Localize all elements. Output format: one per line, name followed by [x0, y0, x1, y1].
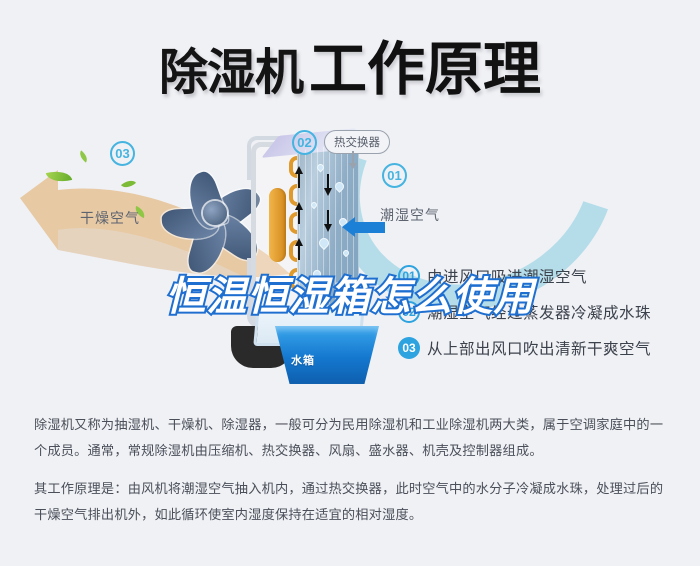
- paragraph-two: 其工作原理是：由风机将潮湿空气抽入机内，通过热交换器，此时空气中的水分子冷凝成水…: [34, 476, 670, 528]
- list-item: 03 从上部出风口吹出清新干爽空气: [398, 330, 698, 366]
- bubble-tip: [349, 163, 357, 169]
- label-heat-exchanger: 热交换器: [324, 130, 390, 154]
- badge-dry-air: 03: [110, 141, 135, 166]
- badge-heat-exchanger: 02: [292, 130, 317, 155]
- page-title: 除湿机工作原理: [0, 22, 700, 106]
- paragraph-one: 除湿机又称为抽湿机、干燥机、除湿器，一般可分为民用除湿机和工业除湿机两大类，属于…: [34, 412, 670, 464]
- body-copy: 除湿机又称为抽湿机、干燥机、除湿器，一般可分为民用除湿机和工业除湿机两大类，属于…: [34, 412, 670, 528]
- watermark-overlay: 恒温恒湿箱怎么使用: [0, 264, 700, 322]
- label-humid-air: 潮湿空气: [380, 205, 440, 225]
- badge-humid-air: 01: [382, 163, 407, 188]
- title-part-two: 工作原理: [309, 37, 541, 102]
- step-badge: 03: [398, 337, 420, 359]
- step-text: 从上部出风口吹出清新干爽空气: [427, 337, 651, 359]
- infographic-page: 除湿机工作原理: [0, 0, 700, 566]
- water-tank-label: 水箱: [291, 352, 315, 368]
- fan-hub: [203, 201, 227, 225]
- label-dry-air: 干燥空气: [80, 208, 140, 228]
- title-part-one: 除湿机: [159, 46, 303, 100]
- compressor: [269, 188, 286, 262]
